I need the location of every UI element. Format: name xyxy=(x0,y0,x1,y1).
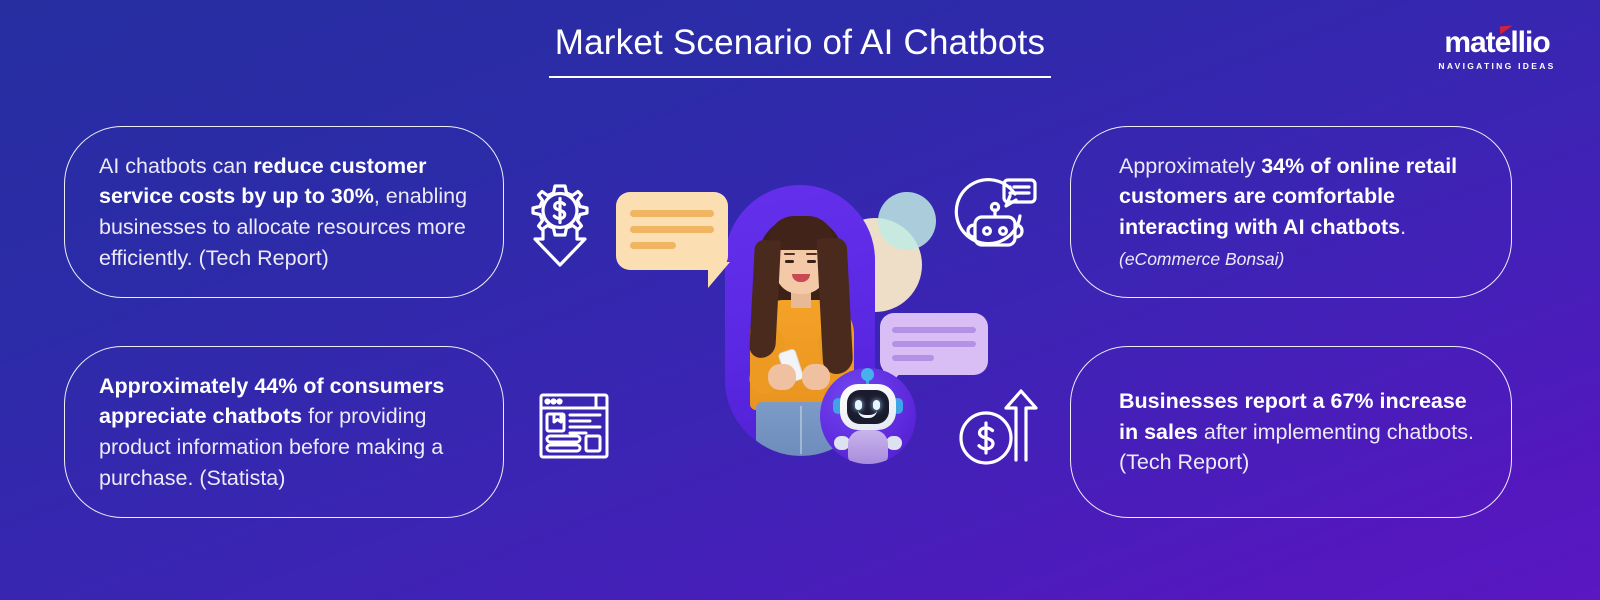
infographic-canvas: Market Scenario of AI Chatbots matellio … xyxy=(0,0,1600,600)
hand-left xyxy=(768,364,796,390)
stat-card-sales-increase: Businesses report a 67% increase in sale… xyxy=(1070,346,1512,518)
robot-body xyxy=(848,430,888,464)
robot-eye-right xyxy=(873,400,880,410)
text-rest: . xyxy=(1400,215,1406,239)
bubble-line xyxy=(892,327,976,333)
bubble-line xyxy=(630,210,714,217)
bubble-line xyxy=(630,242,676,249)
hair-right xyxy=(816,237,853,374)
logo-tagline: NAVIGATING IDEAS xyxy=(1422,61,1572,71)
stat-card-sales-increase-text: Businesses report a 67% increase in sale… xyxy=(1105,386,1477,478)
purple-chat-bubble xyxy=(880,313,988,375)
central-illustration xyxy=(600,110,1020,510)
page-title: Market Scenario of AI Chatbots xyxy=(549,22,1051,78)
stat-card-consumer-appreciation-text: Approximately 44% of consumers appreciat… xyxy=(99,371,469,493)
text-lead: AI chatbots can xyxy=(99,154,253,178)
gear-dollar-down-arrow-icon xyxy=(518,176,602,276)
eyebrow-right xyxy=(806,253,817,255)
eye-left xyxy=(785,260,794,263)
logo-wordmark: matellio xyxy=(1422,28,1572,58)
page-title-container: Market Scenario of AI Chatbots xyxy=(0,22,1600,78)
robot-antenna-ball xyxy=(861,368,874,381)
bubble-line xyxy=(892,341,976,347)
robot-eye-left xyxy=(855,400,862,410)
stat-card-retail-comfort: Approximately 34% of online retail custo… xyxy=(1070,126,1512,298)
stat-card-consumer-appreciation: Approximately 44% of consumers appreciat… xyxy=(64,346,504,518)
source-citation: (eCommerce Bonsai) xyxy=(1119,249,1284,269)
stat-card-retail-comfort-text: Approximately 34% of online retail custo… xyxy=(1105,151,1477,273)
stat-card-cost-reduction: AI chatbots can reduce customer service … xyxy=(64,126,504,298)
hand-right xyxy=(802,364,830,390)
eye-right xyxy=(807,260,816,263)
chatbot-robot-avatar xyxy=(820,368,916,464)
bubble-line xyxy=(630,226,714,233)
brand-logo: matellio NAVIGATING IDEAS xyxy=(1422,28,1572,71)
robot-arm-right xyxy=(886,436,902,450)
robot-face-screen xyxy=(847,390,889,424)
text-lead: Approximately xyxy=(1119,154,1261,178)
teal-decor-circle xyxy=(878,192,936,250)
eyebrow-left xyxy=(784,253,795,255)
stat-card-cost-reduction-text: AI chatbots can reduce customer service … xyxy=(99,151,469,273)
logo-name: matellio xyxy=(1444,26,1549,59)
jeans-seam xyxy=(800,406,802,454)
logo-triangle-accent-icon xyxy=(1500,26,1514,35)
bubble-line xyxy=(892,355,934,361)
orange-chat-bubble xyxy=(616,192,728,270)
